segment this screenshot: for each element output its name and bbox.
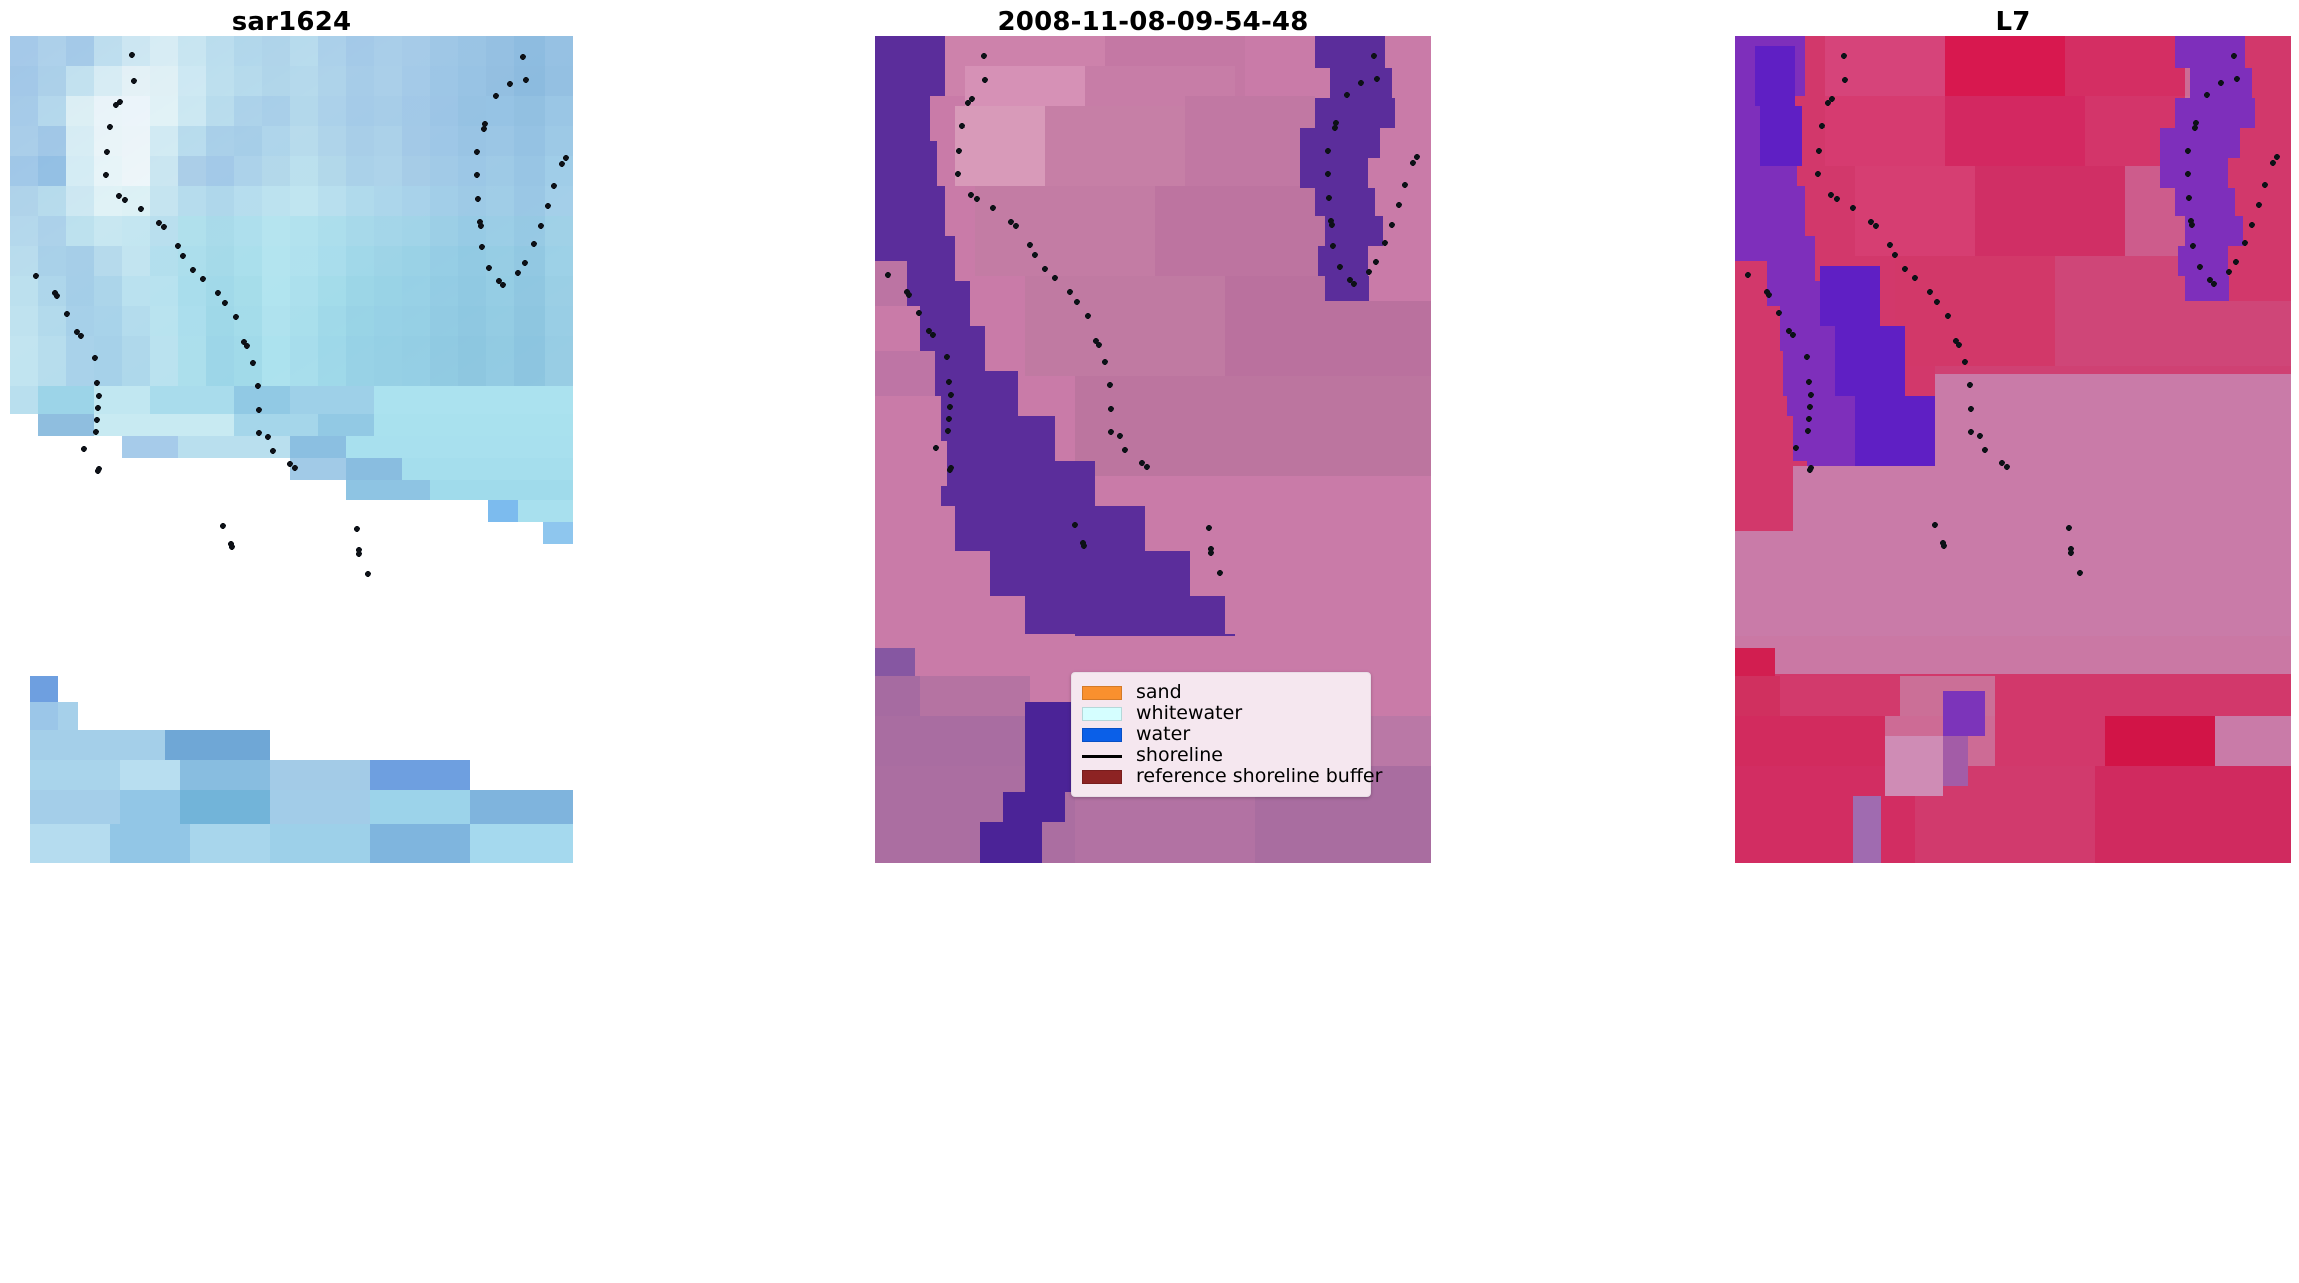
- legend-label-sand: sand: [1136, 682, 1182, 703]
- shoreline-line-icon: [1082, 755, 1122, 758]
- sar-raster-image: [10, 36, 573, 863]
- axes-sar: [10, 36, 573, 863]
- legend-label-water: water: [1136, 724, 1190, 745]
- panel-sar: sar1624: [0, 0, 583, 880]
- panel-title-sar: sar1624: [0, 4, 583, 40]
- panel-title-rgb-classified: 2008-11-08-09-54-48: [875, 4, 1431, 40]
- legend-item-sand: sand: [1082, 682, 1358, 703]
- legend-label-reference-shoreline-buffer: reference shoreline buffer: [1136, 766, 1382, 787]
- legend-label-shoreline: shoreline: [1136, 745, 1223, 766]
- water-swatch-icon: [1082, 728, 1122, 742]
- classification-legend: sand whitewater water shoreline referenc…: [1071, 672, 1371, 797]
- whitewater-swatch-icon: [1082, 707, 1122, 721]
- sand-swatch-icon: [1082, 686, 1122, 700]
- axes-l7: [1735, 36, 2291, 863]
- legend-item-shoreline: shoreline: [1082, 745, 1358, 766]
- legend-item-reference-shoreline-buffer: reference shoreline buffer: [1082, 766, 1358, 787]
- panel-l7: L7: [1735, 0, 2291, 880]
- figure-canvas: sar1624: [0, 0, 2299, 1283]
- legend-label-whitewater: whitewater: [1136, 703, 1242, 724]
- legend-item-whitewater: whitewater: [1082, 703, 1358, 724]
- reference-shoreline-buffer-swatch-icon: [1082, 770, 1122, 784]
- legend-item-water: water: [1082, 724, 1358, 745]
- l7-raster-image: [1735, 36, 2291, 863]
- panel-title-l7: L7: [1735, 4, 2291, 40]
